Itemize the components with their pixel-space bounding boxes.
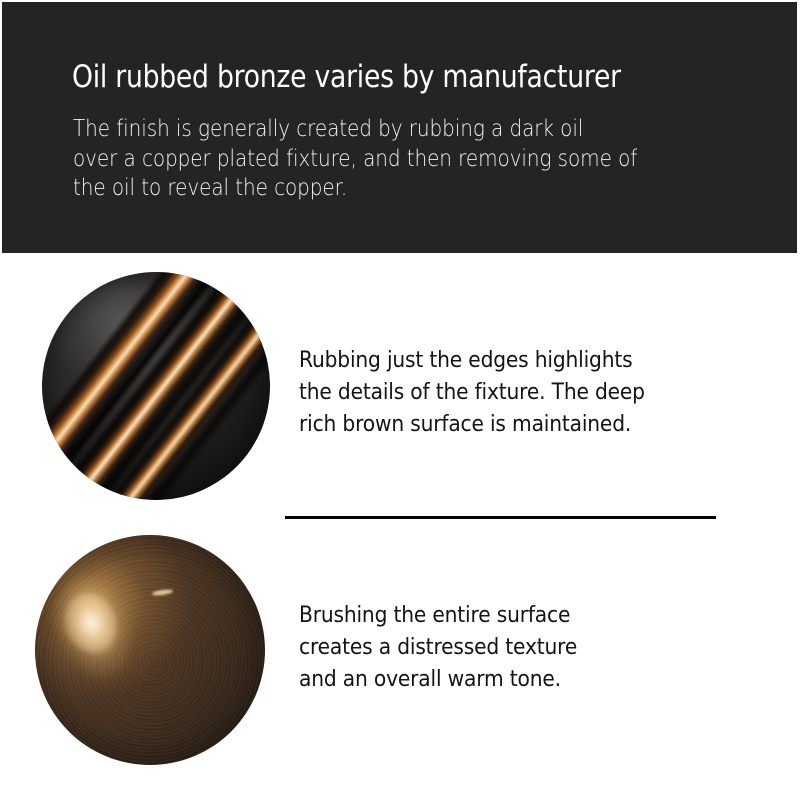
oil-rubbed-bronze-edges-swatch bbox=[42, 272, 270, 500]
edges-description: Rubbing just the edges highlights the de… bbox=[299, 345, 722, 441]
header-subtitle: The finish is generally created by rubbi… bbox=[73, 115, 699, 204]
section-divider bbox=[285, 516, 716, 519]
header-subtitle-line-1: The finish is generally created by rubbi… bbox=[73, 115, 699, 145]
page-title: Oil rubbed bronze varies by manufacturer bbox=[72, 58, 674, 96]
brushed-description-line-1: Brushing the entire surface bbox=[299, 600, 722, 632]
brushed-description-line-2: creates a distressed texture bbox=[299, 632, 722, 664]
oil-rubbed-bronze-brushed-swatch bbox=[35, 535, 265, 765]
swatch-sheen bbox=[60, 281, 206, 404]
brushed-description-line-3: and an overall warm tone. bbox=[299, 664, 722, 696]
edges-description-line-2: the details of the fixture. The deep bbox=[299, 377, 722, 409]
edges-description-line-1: Rubbing just the edges highlights bbox=[299, 345, 722, 377]
infographic-page: Oil rubbed bronze varies by manufacturer… bbox=[0, 0, 800, 800]
header-panel: Oil rubbed bronze varies by manufacturer… bbox=[2, 2, 797, 253]
edges-description-line-3: rich brown surface is maintained. bbox=[299, 409, 722, 441]
brushed-description: Brushing the entire surface creates a di… bbox=[299, 600, 722, 696]
header-subtitle-line-3: the oil to reveal the copper. bbox=[73, 174, 699, 204]
header-subtitle-line-2: over a copper plated fixture, and then r… bbox=[73, 145, 699, 175]
